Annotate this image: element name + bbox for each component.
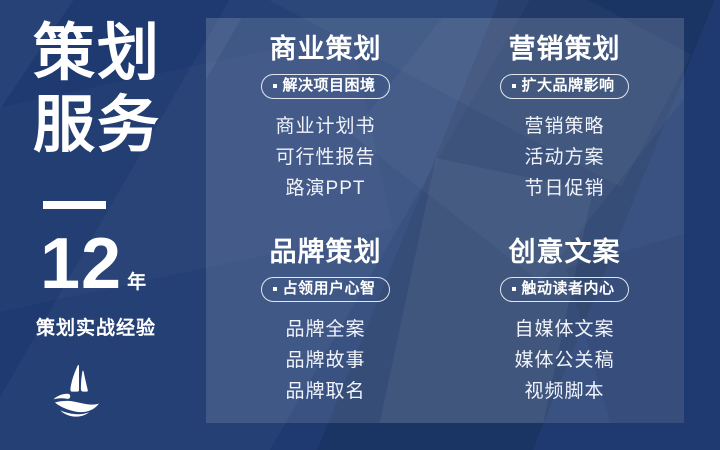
- service-cell-marketing[interactable]: 营销策划 扩大品牌影响 营销策略 活动方案 节日促销: [445, 18, 684, 221]
- poster-title-line1: 策划: [33, 19, 161, 88]
- services-panel: 商业策划 解决项目困境 商业计划书 可行性报告 路演PPT 营销策划 扩大品牌影…: [206, 18, 684, 423]
- list-item[interactable]: 路演PPT: [286, 173, 366, 204]
- poster-root: 策划 服务 12 年 策划实战经验: [0, 0, 720, 450]
- service-item-list: 自媒体文案 媒体公关稿 视频脚本: [514, 314, 614, 407]
- list-item[interactable]: 营销策略: [524, 111, 604, 142]
- list-item[interactable]: 可行性报告: [275, 142, 375, 173]
- list-item[interactable]: 品牌全案: [285, 314, 365, 345]
- square-bullet-icon: [512, 84, 516, 88]
- service-tag-pill: 扩大品牌影响: [500, 74, 628, 99]
- poster-title-line2: 服务: [33, 90, 161, 162]
- list-item[interactable]: 视频脚本: [524, 376, 604, 407]
- list-item[interactable]: 品牌取名: [285, 376, 365, 407]
- list-item[interactable]: 活动方案: [524, 142, 604, 173]
- experience-caption: 策划实战经验: [36, 313, 156, 340]
- service-title: 品牌策划: [270, 236, 382, 268]
- list-item[interactable]: 品牌故事: [285, 345, 365, 376]
- experience-years: 12 年: [40, 228, 146, 300]
- square-bullet-icon: [273, 84, 277, 88]
- years-number: 12: [40, 228, 122, 300]
- service-tag-label: 扩大品牌影响: [521, 77, 614, 95]
- service-tag-label: 占领用户心智: [282, 280, 375, 298]
- left-column: 策划 服务 12 年 策划实战经验: [0, 0, 206, 450]
- service-title: 创意文案: [509, 236, 621, 268]
- service-item-list: 商业计划书 可行性报告 路演PPT: [275, 111, 375, 204]
- list-item[interactable]: 商业计划书: [275, 111, 375, 142]
- poster-title: 策划 服务: [33, 18, 161, 162]
- service-item-list: 营销策略 活动方案 节日促销: [524, 111, 604, 204]
- sailboat-logo-icon: [47, 363, 107, 419]
- years-unit: 年: [127, 272, 146, 294]
- service-tag-label: 解决项目困境: [282, 77, 375, 95]
- square-bullet-icon: [512, 287, 516, 291]
- title-divider: [43, 201, 106, 209]
- list-item[interactable]: 媒体公关稿: [514, 345, 614, 376]
- service-title: 商业策划: [270, 33, 382, 65]
- square-bullet-icon: [273, 287, 277, 291]
- service-tag-pill: 触动读者内心: [500, 277, 628, 302]
- service-cell-brand[interactable]: 品牌策划 占领用户心智 品牌全案 品牌故事 品牌取名: [206, 221, 445, 424]
- service-cell-copywriting[interactable]: 创意文案 触动读者内心 自媒体文案 媒体公关稿 视频脚本: [445, 221, 684, 424]
- service-tag-pill: 占领用户心智: [261, 277, 389, 302]
- list-item[interactable]: 节日促销: [524, 173, 604, 204]
- service-tag-pill: 解决项目困境: [261, 74, 389, 99]
- services-grid: 商业策划 解决项目困境 商业计划书 可行性报告 路演PPT 营销策划 扩大品牌影…: [206, 18, 684, 423]
- service-tag-label: 触动读者内心: [521, 280, 614, 298]
- service-title: 营销策划: [509, 33, 621, 65]
- service-cell-business[interactable]: 商业策划 解决项目困境 商业计划书 可行性报告 路演PPT: [206, 18, 445, 221]
- list-item[interactable]: 自媒体文案: [514, 314, 614, 345]
- service-item-list: 品牌全案 品牌故事 品牌取名: [285, 314, 365, 407]
